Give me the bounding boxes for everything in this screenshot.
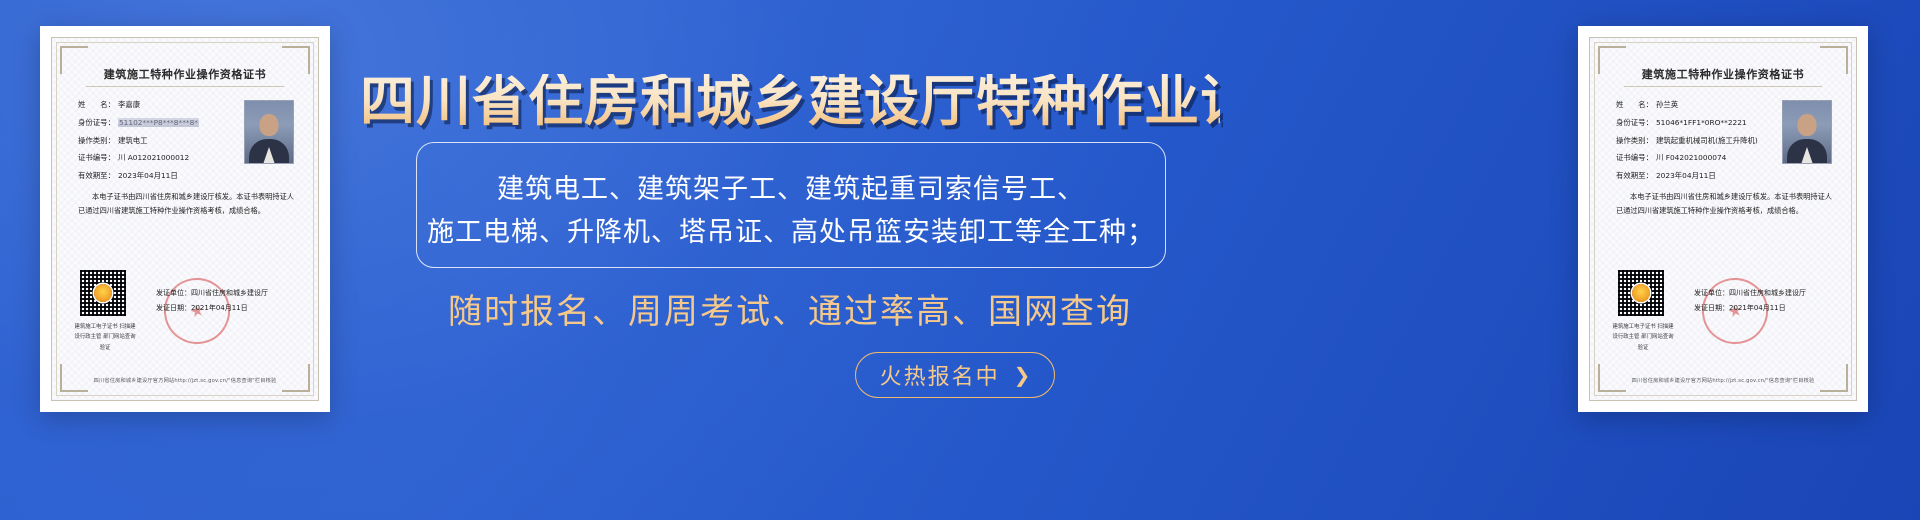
certificate-issuer-block: 发证单位：四川省住房和城乡建设厅 发证日期：2021年04月11日 (156, 286, 268, 315)
enroll-now-button-label: 火热报名中 (880, 359, 1000, 391)
certificate-field: 操作类别： 建筑起重机械司机(施工升降机) (1616, 136, 1781, 145)
page-title: 四川省住房和城乡建设厅特种作业证 (360, 74, 1220, 129)
field-value: 李嘉康 (118, 100, 140, 109)
certificate-card-left: 建筑施工特种作业操作资格证书 姓 名： 李嘉康 身份证号： 51102***P8… (40, 26, 330, 412)
field-value: 川 F042021000074 (1656, 153, 1726, 162)
certificate-field: 证书编号： 川 A012021000012 (78, 153, 243, 162)
field-label: 有效期至： (78, 171, 115, 180)
certificate-footer-note: 四川省住房和城乡建设厅官方网站http://jzt.sc.gov.cn/"信息查… (1606, 377, 1840, 384)
certificate-field-list: 姓 名： 孙兰英 身份证号： 51046*1FF1*0RO**2221 操作类别… (1616, 100, 1781, 189)
certificate-field: 有效期至： 2023年04月11日 (1616, 171, 1781, 180)
issuer-date: 发证日期：2021年04月11日 (1694, 301, 1806, 316)
field-label: 姓 名： (78, 100, 115, 109)
certificate-field-list: 姓 名： 李嘉康 身份证号： 51102***P8***8***8* 操作类别：… (78, 100, 243, 189)
certificate-field: 身份证号： 51102***P8***8***8* (78, 118, 243, 127)
certificate-card-right: 建筑施工特种作业操作资格证书 姓 名： 孙兰英 身份证号： 51046*1FF1… (1578, 26, 1868, 412)
portrait-head-shape (260, 114, 279, 136)
certificate-field: 身份证号： 51046*1FF1*0RO**2221 (1616, 118, 1781, 127)
issuer-date: 发证日期：2021年04月11日 (156, 301, 268, 316)
issuer-authority: 发证单位：四川省住房和城乡建设厅 (156, 286, 268, 301)
certificate-field: 姓 名： 孙兰英 (1616, 100, 1781, 109)
certificate-body-text: 本电子证书由四川省住房和城乡建设厅核发。本证书表明持证人已通过四川省建筑施工特种… (78, 190, 294, 219)
field-value: 2023年04月11日 (1656, 171, 1716, 180)
field-value: 建筑电工 (118, 136, 148, 145)
banner-content: 四川省住房和城乡建设厅特种作业证 建筑电工、建筑架子工、建筑起重司索信号工、 施… (360, 0, 1220, 520)
chevron-right-icon: ❯ (1014, 365, 1031, 385)
field-value: 51046*1FF1*0RO**2221 (1656, 118, 1747, 127)
field-value: 建筑起重机械司机(施工升降机) (1656, 136, 1758, 145)
certificate-field: 姓 名： 李嘉康 (78, 100, 243, 109)
certificate-field: 证书编号： 川 F042021000074 (1616, 153, 1781, 162)
field-value: 川 A012021000012 (118, 153, 189, 162)
certificate-footer-note: 四川省住房和城乡建设厅官方网站http://jzt.sc.gov.cn/"信息查… (68, 377, 302, 384)
trades-line-2: 施工电梯、升降机、塔吊证、高处吊篮安装卸工等全工种； (417, 210, 1165, 249)
certificate-inner-frame: 建筑施工特种作业操作资格证书 姓 名： 李嘉康 身份证号： 51102***P8… (51, 37, 319, 401)
promo-banner: 建筑施工特种作业操作资格证书 姓 名： 李嘉康 身份证号： 51102***P8… (0, 0, 1920, 520)
qr-code-icon (80, 270, 126, 316)
certificate-title: 建筑施工特种作业操作资格证书 (1590, 66, 1856, 82)
certificate-title: 建筑施工特种作业操作资格证书 (52, 66, 318, 82)
certificate-inner-frame: 建筑施工特种作业操作资格证书 姓 名： 孙兰英 身份证号： 51046*1FF1… (1589, 37, 1857, 401)
certificate-issuer-block: 发证单位：四川省住房和城乡建设厅 发证日期：2021年04月11日 (1694, 286, 1806, 315)
certificate-field: 有效期至： 2023年04月11日 (78, 171, 243, 180)
certificate-body-paragraph: 本电子证书由四川省住房和城乡建设厅核发。本证书表明持证人已通过四川省建筑施工特种… (1616, 190, 1832, 219)
certificate-field: 操作类别： 建筑电工 (78, 136, 243, 145)
certificate-portrait-photo (244, 100, 294, 164)
field-label: 有效期至： (1616, 171, 1653, 180)
scope-of-trades-box: 建筑电工、建筑架子工、建筑起重司索信号工、 施工电梯、升降机、塔吊证、高处吊篮安… (416, 142, 1166, 268)
qr-code-icon (1618, 270, 1664, 316)
trades-line-1: 建筑电工、建筑架子工、建筑起重司索信号工、 (417, 167, 1165, 206)
field-value: 孙兰英 (1656, 100, 1678, 109)
issuer-authority: 发证单位：四川省住房和城乡建设厅 (1694, 286, 1806, 301)
field-label: 身份证号： (78, 118, 115, 127)
certificate-title-divider (86, 86, 284, 87)
certificate-portrait-photo (1782, 100, 1832, 164)
field-label: 操作类别： (1616, 136, 1653, 145)
selling-points-text: 随时报名、周周考试、通过率高、国网查询 (360, 284, 1220, 333)
certificate-body-text: 本电子证书由四川省住房和城乡建设厅核发。本证书表明持证人已通过四川省建筑施工特种… (1616, 190, 1832, 219)
field-label: 姓 名： (1616, 100, 1653, 109)
qr-code-caption: 建筑施工电子证书 扫描建设行政主管 部门网站查询验证 (1612, 322, 1674, 353)
field-value: 2023年04月11日 (118, 171, 178, 180)
field-label: 操作类别： (78, 136, 115, 145)
field-label: 证书编号： (1616, 153, 1653, 162)
field-label: 身份证号： (1616, 118, 1653, 127)
qr-code-caption: 建筑施工电子证书 扫描建设行政主管 部门网站查询验证 (74, 322, 136, 353)
certificate-body-paragraph: 本电子证书由四川省住房和城乡建设厅核发。本证书表明持证人已通过四川省建筑施工特种… (78, 190, 294, 219)
certificate-title-divider (1624, 86, 1822, 87)
field-value: 51102***P8***8***8* (118, 118, 199, 127)
field-label: 证书编号： (78, 153, 115, 162)
portrait-head-shape (1798, 114, 1817, 136)
enroll-now-button[interactable]: 火热报名中 ❯ (855, 352, 1055, 398)
